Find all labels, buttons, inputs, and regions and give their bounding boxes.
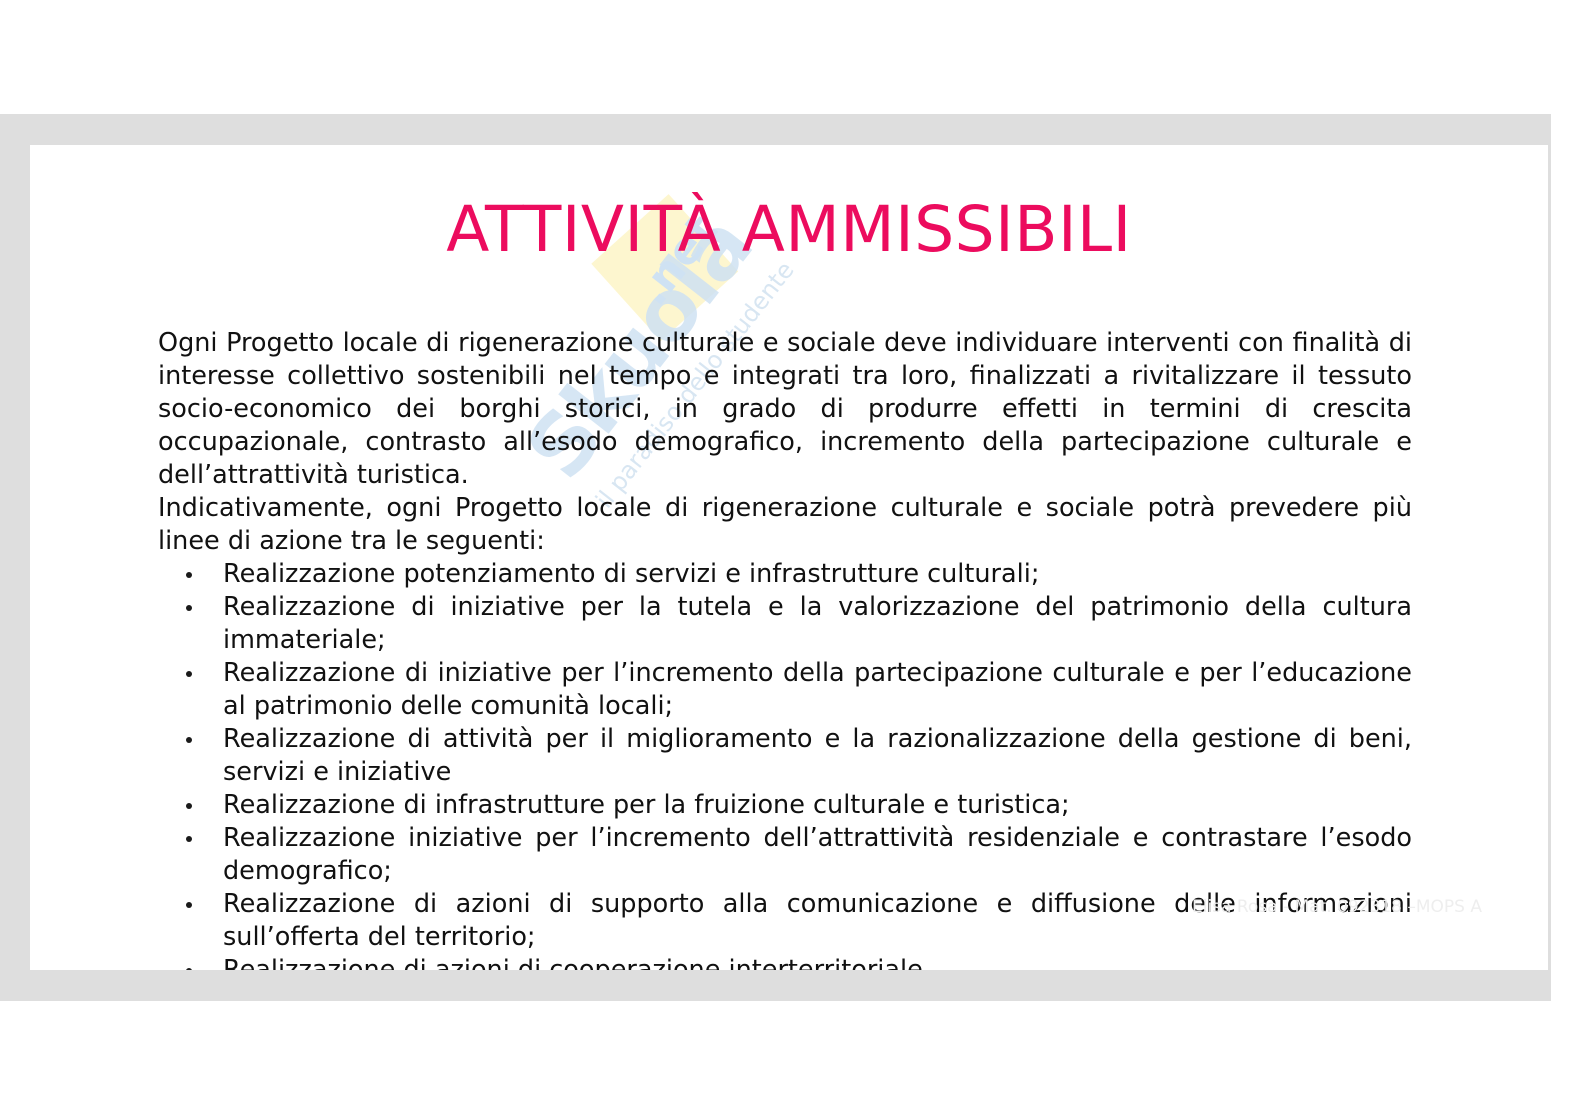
list-item: Realizzazione di attività per il miglior… — [158, 723, 1412, 789]
list-item: Realizzazione di azioni di cooperazione … — [158, 954, 1412, 970]
list-item-label: Realizzazione di iniziative per la tutel… — [223, 592, 1412, 655]
bullet-dot-icon — [186, 737, 192, 743]
bullet-dot-icon — [186, 671, 192, 677]
slide-canvas: Skuola .net il paradiso dello studente A… — [30, 145, 1548, 970]
list-item-label: Realizzazione di attività per il miglior… — [223, 724, 1412, 787]
page-title: ATTIVITÀ AMMISSIBILI — [30, 195, 1548, 265]
list-item-label: Realizzazione iniziative per l’increment… — [223, 823, 1412, 886]
list-item: Realizzazione di iniziative per l’increm… — [158, 657, 1412, 723]
bullet-dot-icon — [186, 803, 192, 809]
bullet-dot-icon — [186, 572, 192, 578]
bullet-dot-icon — [186, 605, 192, 611]
list-item-label: Realizzazione di iniziative per l’increm… — [223, 658, 1412, 721]
list-item: Realizzazione potenziamento di servizi e… — [158, 558, 1412, 591]
bullet-dot-icon — [186, 902, 192, 908]
slide-body: Ogni Progetto locale di rigenerazione cu… — [158, 327, 1412, 970]
bullet-dot-icon — [186, 968, 192, 970]
list-item-label: Realizzazione di azioni di cooperazione … — [223, 955, 931, 970]
list-item-label: Realizzazione potenziamento di servizi e… — [223, 559, 1039, 589]
list-item: Realizzazione iniziative per l’increment… — [158, 822, 1412, 888]
footer-credit: Elisa Rosa - Mat. 092318 –MOPS A — [1192, 897, 1482, 917]
bullet-dot-icon — [186, 836, 192, 842]
intro-paragraph: Ogni Progetto locale di rigenerazione cu… — [158, 327, 1412, 492]
list-item: Realizzazione di infrastrutture per la f… — [158, 789, 1412, 822]
list-item-label: Realizzazione di infrastrutture per la f… — [223, 790, 1070, 820]
list-item: Realizzazione di iniziative per la tutel… — [158, 591, 1412, 657]
lead-in-paragraph: Indicativamente, ogni Progetto locale di… — [158, 492, 1412, 558]
